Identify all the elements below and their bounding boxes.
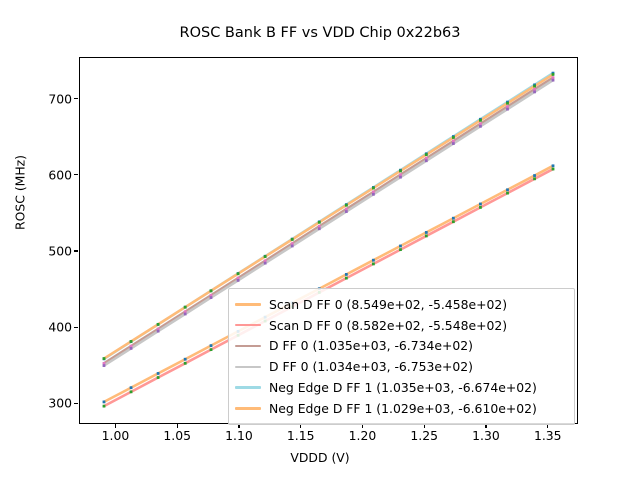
data-point bbox=[103, 405, 106, 408]
data-point bbox=[425, 231, 428, 234]
y-axis-tick-labels: 300400500600700 bbox=[20, 0, 72, 480]
legend-color-swatch bbox=[235, 366, 261, 368]
data-point bbox=[130, 340, 133, 343]
x-tick-label: 1.20 bbox=[349, 428, 377, 443]
data-point bbox=[506, 102, 509, 105]
data-point bbox=[210, 296, 213, 299]
data-point bbox=[345, 208, 348, 211]
data-point bbox=[345, 204, 348, 207]
data-point bbox=[479, 203, 482, 206]
data-point bbox=[552, 164, 555, 167]
data-point bbox=[479, 119, 482, 122]
data-point bbox=[452, 140, 455, 143]
y-tick-label: 700 bbox=[26, 91, 72, 106]
legend-color-swatch bbox=[235, 345, 261, 347]
data-point bbox=[552, 76, 555, 79]
x-tick-label: 1.05 bbox=[163, 428, 191, 443]
data-point bbox=[425, 159, 428, 162]
data-point bbox=[479, 125, 482, 128]
data-point bbox=[210, 344, 213, 347]
data-point bbox=[552, 73, 555, 76]
legend-item[interactable]: Scan D FF 0 (8.582e+02, -5.548e+02) bbox=[235, 315, 568, 336]
data-point bbox=[552, 79, 555, 82]
legend-item[interactable]: Scan D FF 0 (8.549e+02, -5.458e+02) bbox=[235, 294, 568, 315]
data-point bbox=[372, 259, 375, 262]
data-point bbox=[452, 142, 455, 145]
legend-color-swatch bbox=[235, 324, 261, 326]
data-point bbox=[425, 157, 428, 160]
data-point bbox=[552, 168, 555, 171]
data-point bbox=[157, 330, 160, 333]
x-tick-label: 1.00 bbox=[102, 428, 130, 443]
data-point bbox=[452, 217, 455, 220]
legend-label: Scan D FF 0 (8.549e+02, -5.458e+02) bbox=[269, 297, 507, 312]
data-point bbox=[184, 362, 187, 365]
data-point bbox=[103, 357, 106, 360]
data-point bbox=[345, 210, 348, 213]
page-title: ROSC Bank B FF vs VDD Chip 0x22b63 bbox=[0, 25, 640, 41]
x-axis-tick-labels: 1.001.051.101.151.201.251.301.35 bbox=[0, 428, 640, 448]
data-point bbox=[237, 272, 240, 275]
x-tick-label: 1.30 bbox=[472, 428, 500, 443]
data-point bbox=[479, 122, 482, 125]
chart-legend[interactable]: Scan D FF 0 (8.549e+02, -5.458e+02)Scan … bbox=[228, 288, 575, 425]
data-point bbox=[184, 313, 187, 316]
data-point bbox=[184, 306, 187, 309]
y-tick-label: 300 bbox=[26, 396, 72, 411]
legend-item[interactable]: D FF 0 (1.034e+03, -6.753e+02) bbox=[235, 356, 568, 377]
data-point bbox=[506, 192, 509, 195]
data-point bbox=[479, 206, 482, 209]
data-point bbox=[533, 85, 536, 88]
data-point bbox=[372, 193, 375, 196]
data-point bbox=[291, 245, 294, 248]
y-tick-mark bbox=[74, 98, 78, 99]
data-point bbox=[425, 153, 428, 156]
data-point bbox=[291, 238, 294, 241]
data-point bbox=[237, 279, 240, 282]
data-point bbox=[533, 177, 536, 180]
x-tick-label: 1.35 bbox=[534, 428, 562, 443]
legend-label: Scan D FF 0 (8.582e+02, -5.548e+02) bbox=[269, 318, 507, 333]
legend-color-swatch bbox=[235, 386, 261, 388]
data-point bbox=[399, 245, 402, 248]
y-tick-mark bbox=[74, 327, 78, 328]
legend-label: Neg Edge D FF 1 (1.029e+03, -6.610e+02) bbox=[269, 401, 537, 416]
data-point bbox=[157, 372, 160, 375]
data-point bbox=[533, 91, 536, 94]
x-tick-label: 1.25 bbox=[410, 428, 438, 443]
data-point bbox=[130, 386, 133, 389]
data-point bbox=[506, 105, 509, 108]
data-point bbox=[399, 170, 402, 173]
data-point bbox=[452, 136, 455, 139]
data-point bbox=[264, 255, 267, 258]
data-point bbox=[399, 248, 402, 251]
x-axis-label: VDDD (V) bbox=[0, 450, 640, 465]
data-point bbox=[345, 273, 348, 276]
legend-label: D FF 0 (1.035e+03, -6.734e+02) bbox=[269, 338, 473, 353]
data-point bbox=[210, 289, 213, 292]
data-point bbox=[533, 88, 536, 91]
data-point bbox=[184, 358, 187, 361]
data-point bbox=[506, 108, 509, 111]
data-point bbox=[372, 263, 375, 266]
data-point bbox=[318, 227, 321, 230]
data-point bbox=[425, 235, 428, 238]
matplotlib-figure: ROSC Bank B FF vs VDD Chip 0x22b63 ROSC … bbox=[0, 0, 640, 480]
y-tick-mark bbox=[74, 403, 78, 404]
data-point bbox=[264, 262, 267, 265]
data-point bbox=[130, 347, 133, 350]
data-point bbox=[345, 277, 348, 280]
data-point bbox=[399, 176, 402, 179]
legend-item[interactable]: Neg Edge D FF 1 (1.029e+03, -6.610e+02) bbox=[235, 398, 568, 419]
y-tick-mark bbox=[74, 250, 78, 251]
data-point bbox=[533, 174, 536, 177]
data-point bbox=[372, 187, 375, 190]
y-tick-mark bbox=[74, 174, 78, 175]
x-tick-label: 1.10 bbox=[225, 428, 253, 443]
legend-color-swatch bbox=[235, 407, 261, 409]
data-point bbox=[103, 364, 106, 367]
data-point bbox=[130, 390, 133, 393]
y-tick-label: 600 bbox=[26, 167, 72, 182]
data-point bbox=[452, 220, 455, 223]
y-tick-label: 400 bbox=[26, 320, 72, 335]
data-point bbox=[157, 323, 160, 326]
legend-item[interactable]: Neg Edge D FF 1 (1.035e+03, -6.674e+02) bbox=[235, 377, 568, 398]
legend-color-swatch bbox=[235, 303, 261, 305]
data-point bbox=[157, 376, 160, 379]
legend-item[interactable]: D FF 0 (1.035e+03, -6.734e+02) bbox=[235, 336, 568, 357]
data-point bbox=[399, 173, 402, 176]
data-point bbox=[210, 348, 213, 351]
x-tick-label: 1.15 bbox=[287, 428, 315, 443]
legend-label: Neg Edge D FF 1 (1.035e+03, -6.674e+02) bbox=[269, 380, 537, 395]
data-point bbox=[103, 401, 106, 404]
data-point bbox=[318, 221, 321, 224]
y-tick-label: 500 bbox=[26, 243, 72, 258]
legend-label: D FF 0 (1.034e+03, -6.753e+02) bbox=[269, 359, 473, 374]
data-point bbox=[506, 188, 509, 191]
